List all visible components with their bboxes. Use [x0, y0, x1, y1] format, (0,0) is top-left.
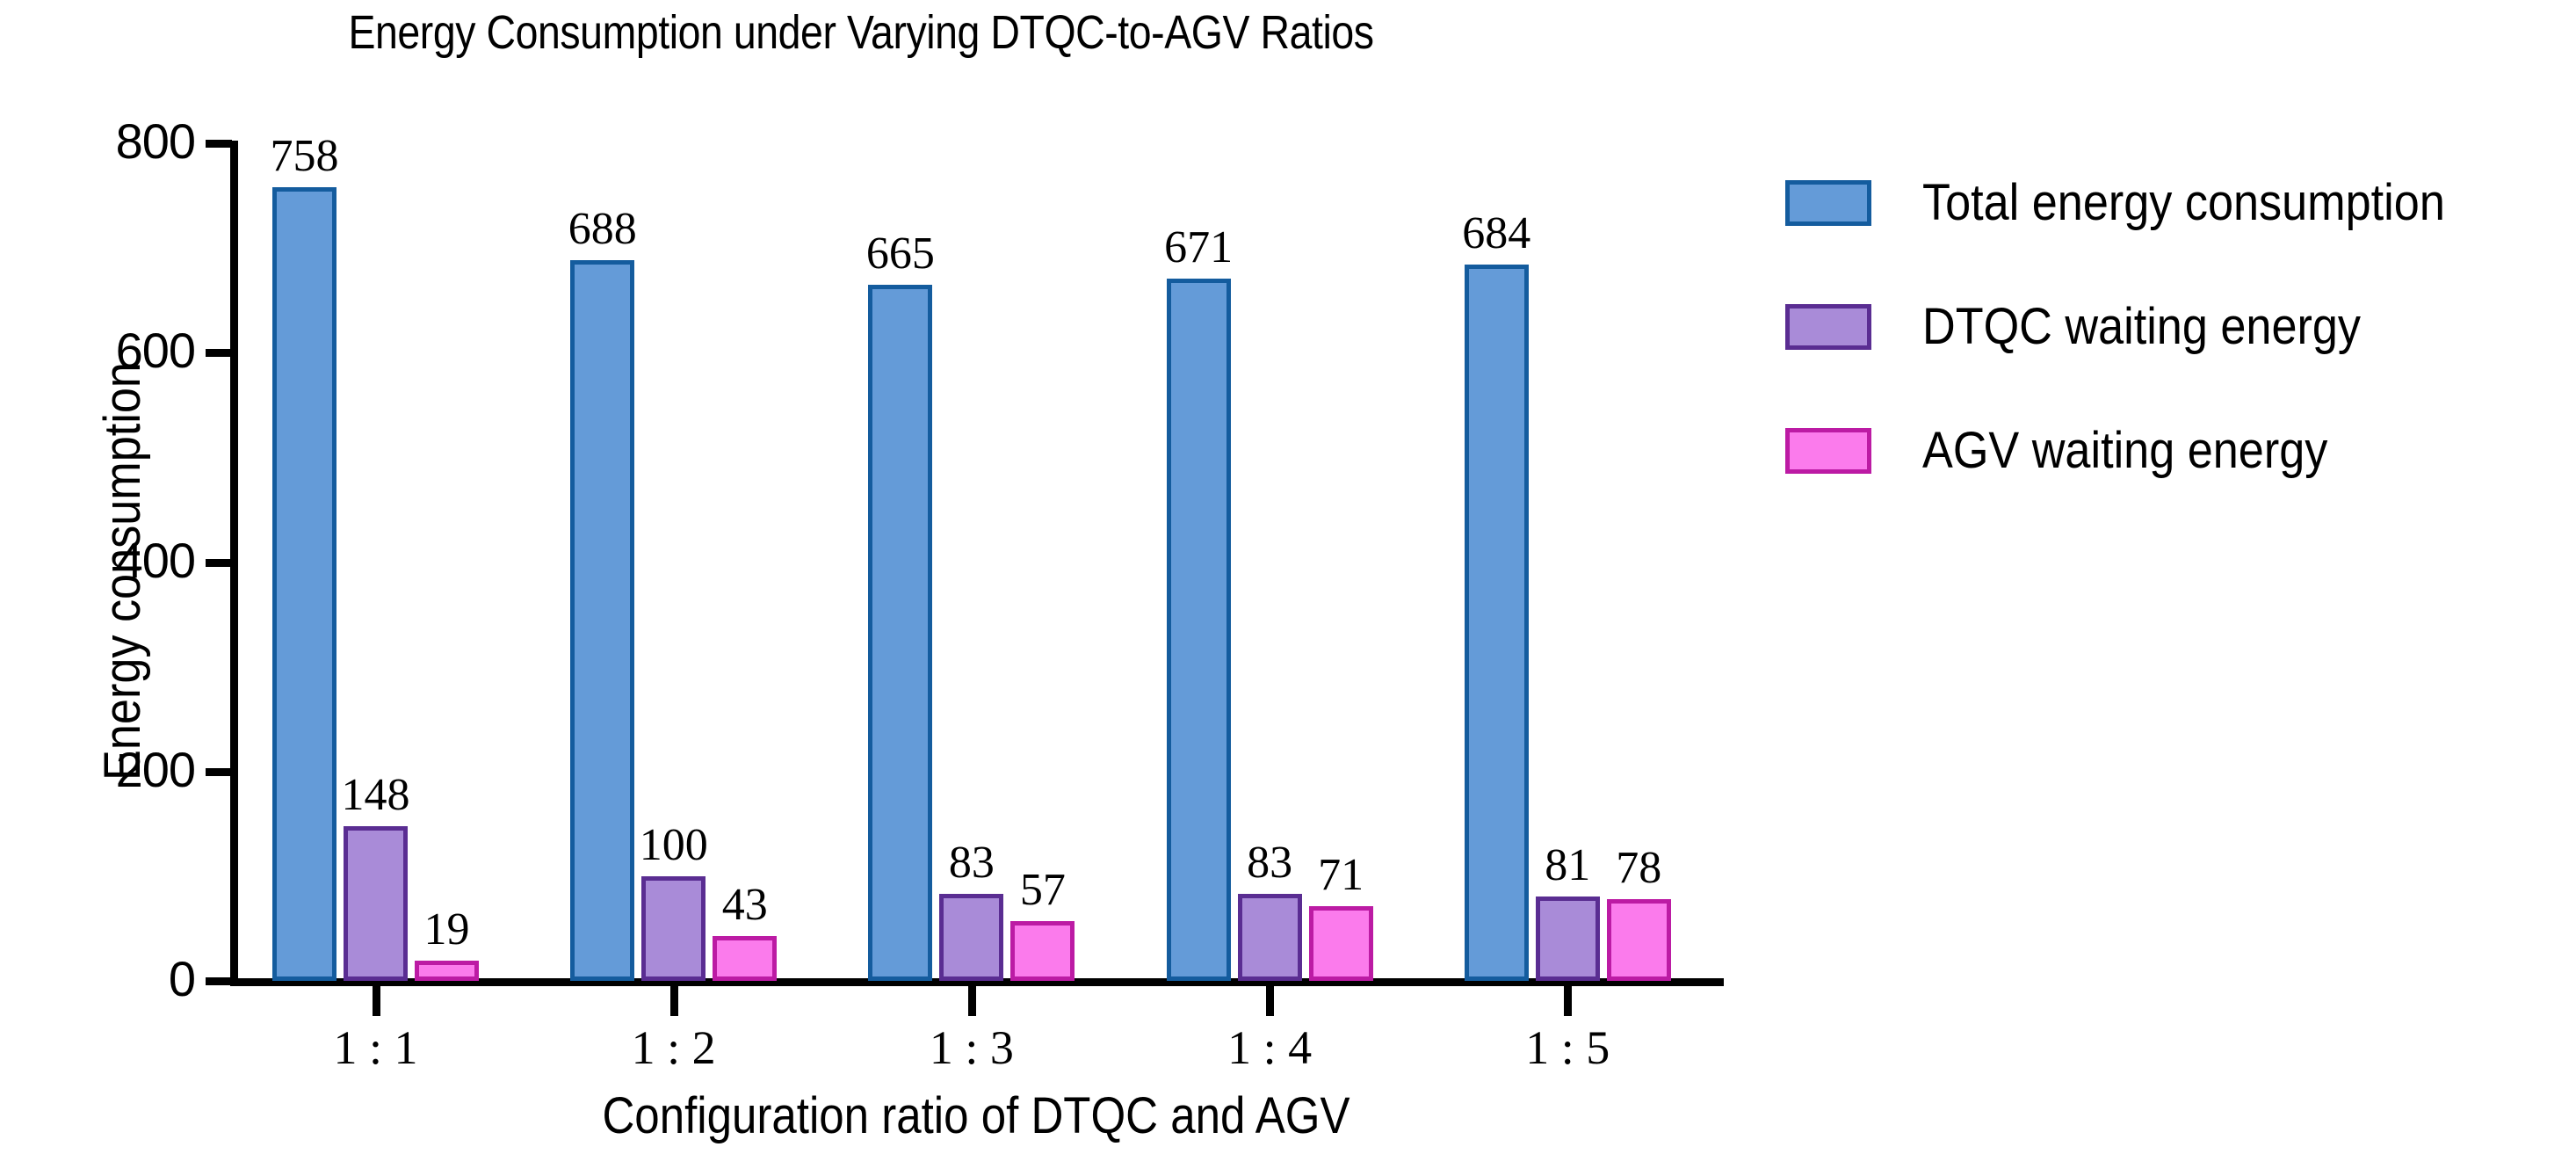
- bar[interactable]: [415, 961, 479, 981]
- x-axis-tick-label: 1 : 1: [262, 1022, 490, 1073]
- y-axis-tick-label: 600: [2, 326, 195, 375]
- bar[interactable]: [344, 826, 408, 981]
- y-axis-tick-label: 800: [2, 117, 195, 166]
- chart-figure: Energy Consumption under Varying DTQC-to…: [0, 0, 2576, 1176]
- x-axis-tick-mark: [1564, 986, 1572, 1016]
- bar-value-label: 78: [1551, 845, 1726, 892]
- y-axis-tick-label: 0: [2, 955, 195, 1004]
- legend-swatch-icon-total-energy-consumption: [1785, 180, 1871, 226]
- legend-swatch-icon-agv-waiting-energy: [1785, 428, 1871, 474]
- legend-item-agv-waiting-energy[interactable]: AGV waiting energy: [1785, 404, 2558, 497]
- legend-item-total-energy-consumption[interactable]: Total energy consumption: [1785, 156, 2558, 250]
- x-axis-tick-label: 1 : 2: [560, 1022, 788, 1073]
- legend-label: Total energy consumption: [1922, 176, 2445, 230]
- bar[interactable]: [1010, 921, 1075, 981]
- y-axis-tick-label: 400: [2, 536, 195, 585]
- chart-title: Energy Consumption under Varying DTQC-to…: [120, 5, 1602, 60]
- bar-value-label: 100: [586, 822, 762, 869]
- legend-swatch-icon-dtqc-waiting-energy: [1785, 304, 1871, 350]
- bar[interactable]: [570, 260, 634, 981]
- y-axis-tick-mark: [206, 349, 232, 357]
- bar[interactable]: [1238, 894, 1302, 981]
- bar[interactable]: [1607, 899, 1671, 981]
- bar-value-label: 43: [657, 882, 833, 929]
- x-axis-tick-label: 1 : 5: [1453, 1022, 1682, 1073]
- bar-value-label: 688: [515, 206, 691, 253]
- y-axis-tick-label: 200: [2, 745, 195, 795]
- bar-value-label: 684: [1408, 210, 1584, 258]
- chart-legend: Total energy consumption DTQC waiting en…: [1785, 156, 2558, 528]
- x-axis-tick-mark: [1266, 986, 1274, 1016]
- bar-value-label: 148: [288, 772, 464, 819]
- x-axis-tick-label: 1 : 4: [1155, 1022, 1384, 1073]
- legend-item-dtqc-waiting-energy[interactable]: DTQC waiting energy: [1785, 280, 2558, 374]
- y-axis-tick-mark: [206, 768, 232, 776]
- x-axis-tick-mark: [670, 986, 678, 1016]
- x-axis-title: Configuration ratio of DTQC and AGV: [322, 1088, 1629, 1144]
- bar[interactable]: [713, 936, 777, 981]
- bar-value-label: 758: [217, 133, 393, 180]
- bar[interactable]: [1536, 897, 1600, 981]
- bar-value-label: 71: [1253, 852, 1429, 899]
- bar[interactable]: [1309, 906, 1373, 981]
- bar-value-label: 671: [1111, 224, 1286, 272]
- x-axis-tick-mark: [968, 986, 976, 1016]
- legend-label: AGV waiting energy: [1922, 424, 2327, 478]
- x-axis-tick-label: 1 : 3: [857, 1022, 1086, 1073]
- bar-value-label: 19: [359, 906, 535, 954]
- bar-value-label: 57: [955, 867, 1131, 914]
- bar-value-label: 665: [813, 230, 988, 278]
- bar[interactable]: [272, 187, 336, 981]
- legend-label: DTQC waiting energy: [1922, 300, 2361, 354]
- y-axis-tick-mark: [206, 559, 232, 567]
- x-axis-tick-mark: [373, 986, 380, 1016]
- y-axis-tick-mark: [206, 977, 232, 985]
